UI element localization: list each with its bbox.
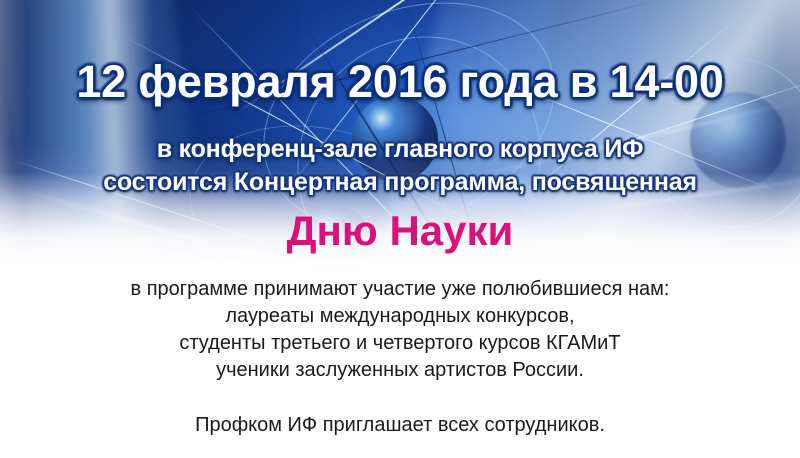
invitation-line: Профком ИФ приглашает всех сотрудников.	[0, 412, 800, 439]
event-headline: 12 февраля 2016 года в 14-00	[0, 57, 800, 107]
participants-line: в программе принимают участие уже полюби…	[0, 276, 800, 303]
event-venue-line: в конференц-зале главного корпуса ИФ	[0, 134, 800, 164]
participants-line: лауреаты международных конкурсов,	[0, 303, 800, 330]
participants-line: ученики заслуженных артистов России.	[0, 357, 800, 384]
participants-block: в программе принимают участие уже полюби…	[0, 276, 800, 384]
occasion-title: Дню Науки	[0, 207, 800, 255]
participants-line: студенты третьего и четвертого курсов КГ…	[0, 330, 800, 357]
event-description-line: состоится Концертная программа, посвящен…	[0, 167, 800, 197]
poster-announcement: 12 февраля 2016 года в 14-00 в конференц…	[0, 0, 800, 458]
